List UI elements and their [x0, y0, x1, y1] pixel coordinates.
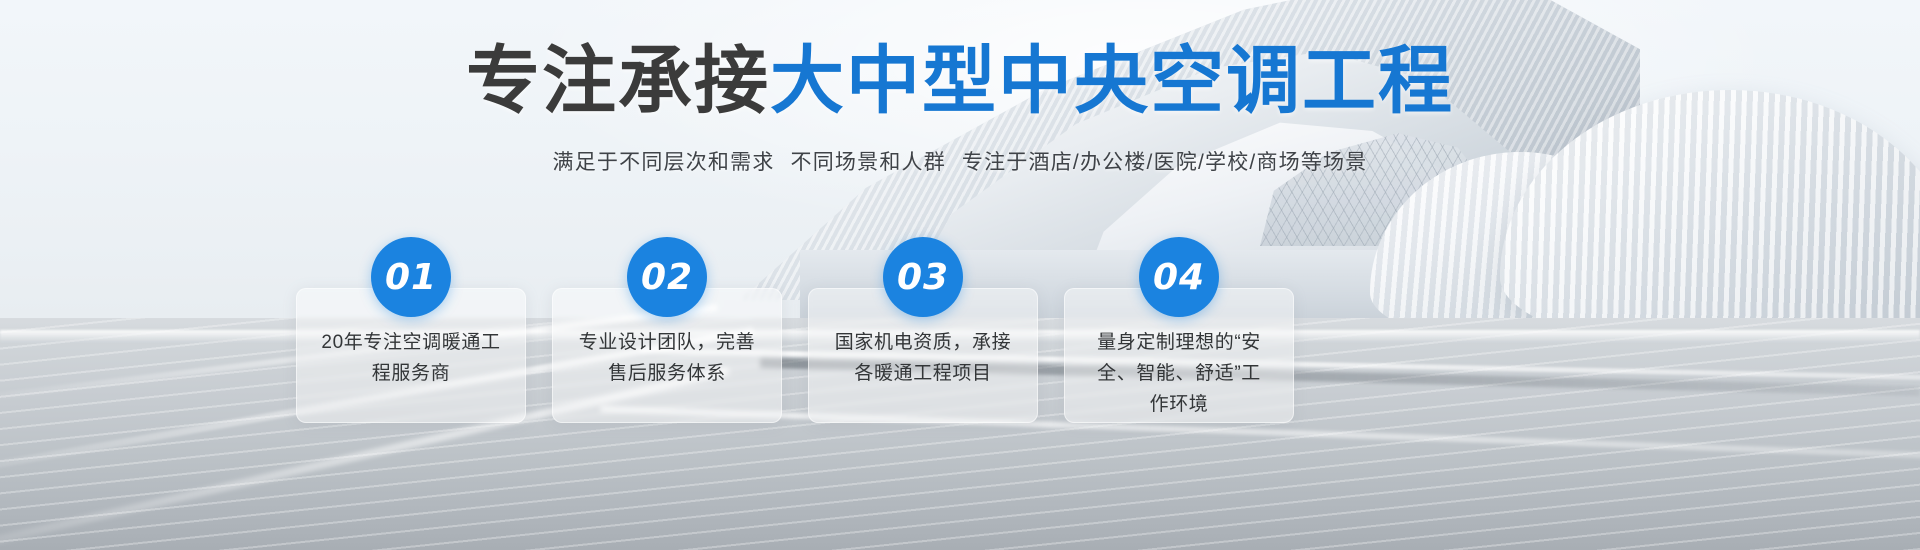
badge-number-4: 04 — [1139, 237, 1219, 317]
badge-label-3: 03 — [897, 257, 949, 298]
feature-card-1[interactable]: 01 20年专注空调暖通工 程服务商 — [296, 288, 526, 423]
badge-number-3: 03 — [883, 237, 963, 317]
banner-headline: 专注承接大中型中央空调工程 — [0, 42, 1920, 120]
feature-card-1-line-1: 20年专注空调暖通工 — [311, 327, 511, 358]
feature-card-2[interactable]: 02 专业设计团队，完善 售后服务体系 — [552, 288, 782, 423]
feature-card-4-line-2: 全、智能、舒适”工 — [1079, 358, 1279, 389]
badge-number-1: 01 — [371, 237, 451, 317]
feature-card-3-text: 国家机电资质，承接 各暖通工程项目 — [823, 327, 1023, 389]
hero-banner: 专注承接大中型中央空调工程 满足于不同层次和需求不同场景和人群专注于酒店/办公楼… — [0, 0, 1920, 550]
subheadline-part-2: 不同场景和人群 — [791, 151, 946, 174]
headline-blue-text: 大中型中央空调工程 — [770, 39, 1454, 122]
feature-card-3-line-1: 国家机电资质，承接 — [823, 327, 1023, 358]
feature-cards: 01 20年专注空调暖通工 程服务商 02 专业设计团队，完善 售后服务体系 0… — [296, 288, 1294, 423]
badge-label-1: 01 — [385, 257, 437, 298]
feature-card-4-text: 量身定制理想的“安 全、智能、舒适”工 作环境 — [1079, 327, 1279, 420]
subheadline-part-1: 满足于不同层次和需求 — [553, 151, 775, 174]
badge-label-4: 04 — [1153, 257, 1205, 298]
feature-card-3-line-2: 各暖通工程项目 — [823, 358, 1023, 389]
badge-label-2: 02 — [641, 257, 693, 298]
banner-subheadline: 满足于不同层次和需求不同场景和人群专注于酒店/办公楼/医院/学校/商场等场景 — [0, 148, 1920, 178]
headline-dark-text: 专注承接 — [466, 39, 770, 122]
subheadline-part-3: 专注于酒店/办公楼/医院/学校/商场等场景 — [962, 151, 1368, 174]
feature-card-2-line-1: 专业设计团队，完善 — [567, 327, 767, 358]
feature-card-1-text: 20年专注空调暖通工 程服务商 — [311, 327, 511, 389]
feature-card-4-line-3: 作环境 — [1079, 389, 1279, 420]
feature-card-4-line-1: 量身定制理想的“安 — [1079, 327, 1279, 358]
feature-card-4[interactable]: 04 量身定制理想的“安 全、智能、舒适”工 作环境 — [1064, 288, 1294, 423]
badge-number-2: 02 — [627, 237, 707, 317]
feature-card-2-line-2: 售后服务体系 — [567, 358, 767, 389]
feature-card-2-text: 专业设计团队，完善 售后服务体系 — [567, 327, 767, 389]
feature-card-1-line-2: 程服务商 — [311, 358, 511, 389]
feature-card-3[interactable]: 03 国家机电资质，承接 各暖通工程项目 — [808, 288, 1038, 423]
